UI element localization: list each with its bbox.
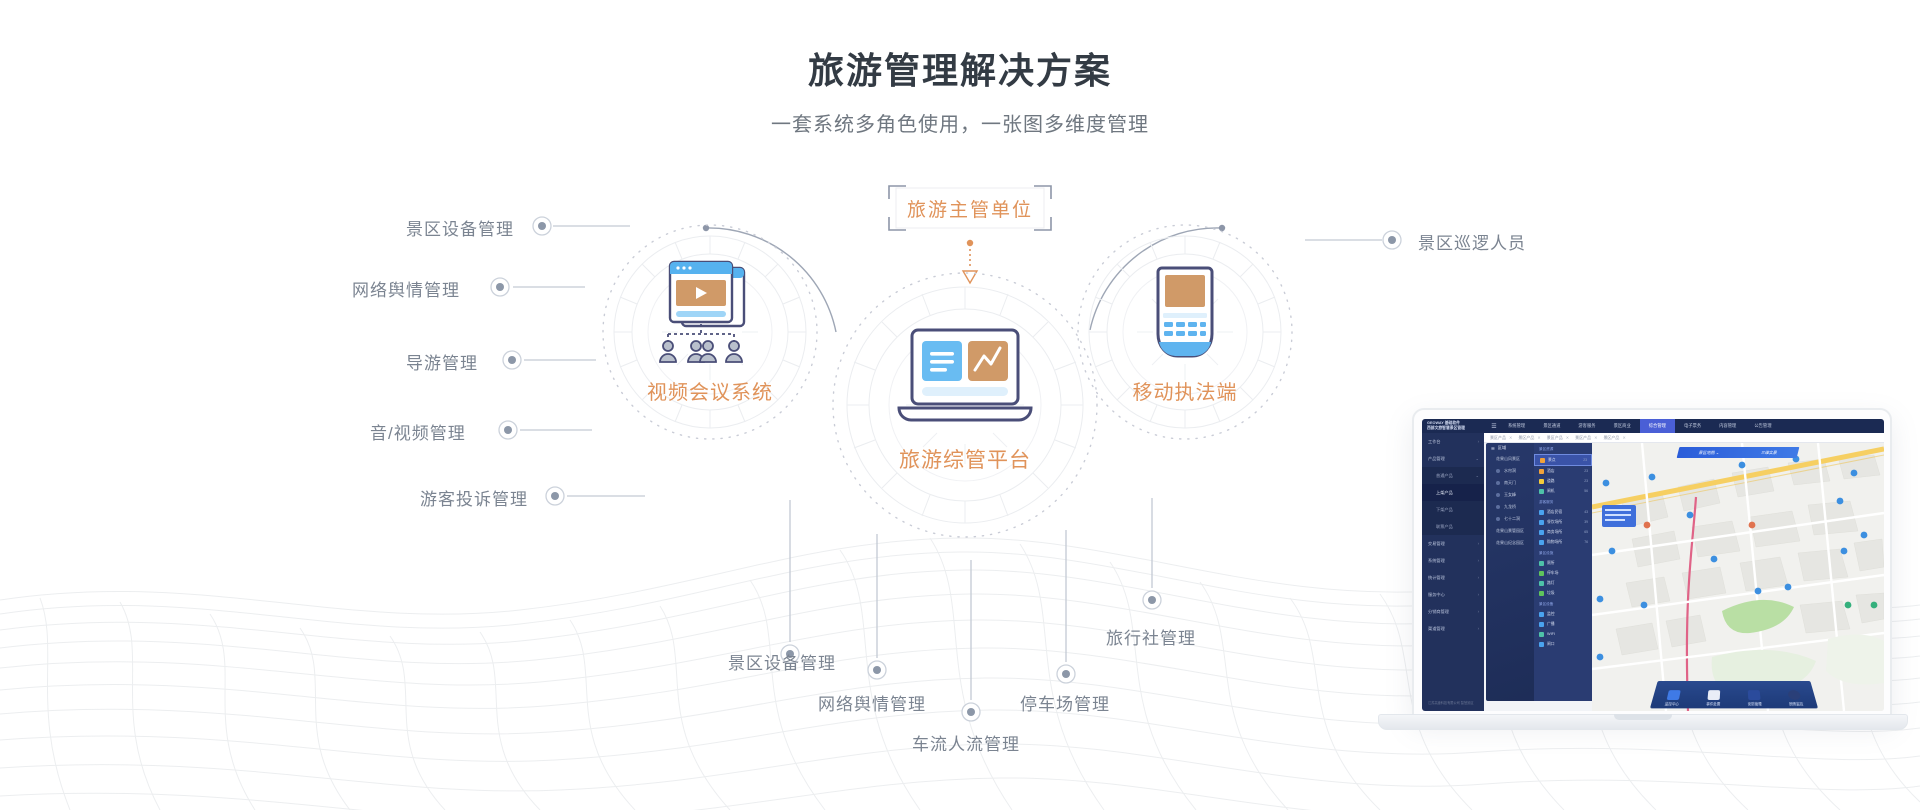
bullet-icon — [1496, 469, 1500, 473]
close-icon: ✕ — [1537, 435, 1540, 440]
left-label-4[interactable]: 游客投诉管理 — [420, 485, 528, 510]
layer-item-1-2[interactable]: 商务场所65 — [1534, 527, 1592, 537]
menu-icon[interactable]: ☰ — [1489, 423, 1499, 430]
left-label-3[interactable]: 音/视频管理 — [370, 419, 466, 444]
layer-item-1-0[interactable]: 酒店民宿43 — [1534, 507, 1592, 517]
close-icon: ✕ — [1566, 435, 1569, 440]
solution-poster: 旅游管理解决方案 一套系统多角色使用，一张图多维度管理 — [0, 0, 1920, 810]
list-icon: ☰ — [1491, 446, 1495, 451]
layer-group-0-title: 景区资源 — [1534, 443, 1592, 454]
sidebar-item-9[interactable]: 服务中心› — [1422, 586, 1484, 603]
sidebar-item-1[interactable]: 产品管理⌄ — [1422, 450, 1484, 467]
layer-item-3-0[interactable]: 监控 — [1534, 609, 1592, 619]
close-icon: ✕ — [1622, 435, 1625, 440]
bottom-label-1[interactable]: 网络舆情管理 — [818, 690, 926, 715]
layer-item-0-3[interactable]: 闸机56 — [1534, 486, 1592, 496]
tab-0[interactable]: 景区产品✕ — [1490, 435, 1512, 441]
layer-item-2-0[interactable]: 厕所 — [1534, 558, 1592, 568]
bullet-icon — [1496, 493, 1500, 497]
layer-item-3-2[interactable]: WIFI — [1534, 629, 1592, 639]
close-icon: ✕ — [1509, 435, 1512, 440]
chevron-right-icon: › — [1478, 575, 1479, 580]
left-label-2[interactable]: 导游管理 — [406, 349, 478, 374]
dashboard-tabstrip: 景区产品✕ 景区产品✕ 景区产品✕ 景区产品✕ 景区产品✕ — [1484, 433, 1884, 443]
dashboard-sidebar: 工作台› 产品管理⌄ 普通产品⌄ 上架产品 下架产品 联票产品 交易管理› 系统… — [1422, 433, 1484, 711]
chevron-right-icon: › — [1478, 541, 1479, 546]
sidebar-item-7[interactable]: 系统管理› — [1422, 552, 1484, 569]
bottom-label-0[interactable]: 景区设备管理 — [728, 649, 836, 674]
left-label-0[interactable]: 景区设备管理 — [406, 215, 514, 240]
layer-item-2-1[interactable]: 停车场 — [1534, 568, 1592, 578]
nav-item-0[interactable]: 系统管理 — [1499, 419, 1534, 433]
bottom-label-2[interactable]: 车流人流管理 — [912, 730, 1020, 755]
layer-item-1-1[interactable]: 餐饮场所39 — [1534, 517, 1592, 527]
node-tourism-platform-label: 旅游综管平台 — [830, 444, 1100, 474]
map-graphic — [1592, 443, 1884, 711]
map-button-0[interactable]: 景区地图 ⌄ — [1698, 450, 1720, 456]
sidebar-item-2[interactable]: 普通产品⌄ — [1422, 467, 1484, 484]
dashboard-app: GEOWAY 基础软件 西部文旅智慧景区管理 ☰ 系统管理 景区通道 游客服务 … — [1422, 419, 1884, 711]
nav-item-6[interactable]: 内容管理 — [1710, 419, 1745, 433]
laptop-mockup: GEOWAY 基础软件 西部文旅智慧景区管理 ☰ 系统管理 景区通道 游客服务 … — [1378, 408, 1908, 758]
dock-item-0[interactable]: 监控中心 — [1664, 690, 1681, 706]
tab-4[interactable]: 景区产品✕ — [1603, 435, 1625, 441]
close-icon: ✕ — [1594, 435, 1597, 440]
chevron-down-icon: ⌄ — [1475, 473, 1479, 478]
sidebar-item-5[interactable]: 联票产品 — [1422, 518, 1484, 535]
sidebar-footer: 江苏高速科技有限公司 智慧景区 — [1428, 701, 1474, 706]
chevron-down-icon: ⌄ — [1716, 450, 1721, 455]
layer-item-0-2[interactable]: 道路23 — [1534, 476, 1592, 486]
layer-group-1-title: 游客服务 — [1534, 496, 1592, 507]
laptop-notch — [1614, 714, 1672, 720]
node-mobile-enforcement-label: 移动执法端 — [1075, 376, 1295, 405]
map-button-1[interactable]: 三维实景 — [1760, 450, 1777, 456]
chevron-right-icon: › — [1478, 609, 1479, 614]
dashboard-brand: GEOWAY 基础软件 西部文旅智慧景区管理 — [1422, 421, 1489, 431]
tab-3[interactable]: 景区产品✕ — [1575, 435, 1597, 441]
page-title: 旅游管理解决方案 — [0, 42, 1920, 94]
map-toolbar: 景区地图 ⌄ 三维实景 — [1677, 447, 1800, 458]
nav-item-7[interactable]: 公告管理 — [1745, 419, 1780, 433]
chevron-right-icon: › — [1478, 439, 1479, 444]
nav-item-5[interactable]: 电子票务 — [1675, 419, 1710, 433]
tab-1[interactable]: 景区产品✕ — [1518, 435, 1540, 441]
layer-item-0-1[interactable]: 酒店23 — [1534, 466, 1592, 476]
nav-item-2[interactable]: 游客服务 — [1569, 419, 1604, 433]
bullet-icon — [1496, 481, 1500, 485]
dock-item-2[interactable]: 安防管理 — [1747, 690, 1762, 706]
authority-box[interactable]: 旅游主管单位 — [888, 185, 1052, 231]
dock-item-1[interactable]: 事件处置 — [1706, 690, 1721, 706]
node-video-conference[interactable] — [600, 222, 820, 442]
sidebar-item-3[interactable]: 上架产品 — [1422, 484, 1484, 501]
chevron-down-icon: ⌄ — [1475, 456, 1479, 461]
laptop-screen: GEOWAY 基础软件 西部文旅智慧景区管理 ☰ 系统管理 景区通道 游客服务 … — [1422, 419, 1884, 711]
dashboard-topbar: GEOWAY 基础软件 西部文旅智慧景区管理 ☰ 系统管理 景区通道 游客服务 … — [1422, 419, 1884, 433]
bullet-icon — [1496, 517, 1500, 521]
layer-item-2-2[interactable]: 路灯 — [1534, 578, 1592, 588]
bottom-label-4[interactable]: 旅行社管理 — [1106, 624, 1196, 649]
sidebar-item-10[interactable]: 分销商管理› — [1422, 603, 1484, 620]
layer-item-3-1[interactable]: 广播 — [1534, 619, 1592, 629]
map-canvas[interactable]: 景区地图 ⌄ 三维实景 监控中心 事件处置 安防管理 舆情监控 — [1592, 443, 1884, 711]
left-label-1[interactable]: 网络舆情管理 — [352, 276, 460, 301]
laptop-screen-frame: GEOWAY 基础软件 西部文旅智慧景区管理 ☰ 系统管理 景区通道 游客服务 … — [1412, 408, 1892, 718]
tab-2[interactable]: 景区产品✕ — [1547, 435, 1569, 441]
authority-label: 旅游主管单位 — [888, 185, 1052, 231]
node-tourism-platform[interactable]: 旅游综管平台 — [830, 270, 1100, 540]
sidebar-item-0[interactable]: 工作台› — [1422, 433, 1484, 450]
sidebar-item-6[interactable]: 交易管理› — [1422, 535, 1484, 552]
layer-item-3-3[interactable]: 闸口 — [1534, 639, 1592, 649]
bottom-label-3[interactable]: 停车场管理 — [1020, 690, 1110, 715]
bullet-icon — [1496, 505, 1500, 509]
layer-group-2-title: 景区设施 — [1534, 547, 1592, 558]
nav-item-3[interactable]: 景区商业 — [1605, 419, 1640, 433]
layer-item-0-0[interactable]: 景点23 — [1534, 454, 1592, 466]
dock-item-3[interactable]: 舆情监控 — [1786, 690, 1803, 706]
sidebar-item-8[interactable]: 统计管理› — [1422, 569, 1484, 586]
chevron-right-icon: › — [1478, 558, 1479, 563]
laptop-dashboard-icon — [893, 326, 1037, 430]
dashboard-nav: 系统管理 景区通道 游客服务 景区商业 综合管理 电子票务 内容管理 公告管理 — [1499, 419, 1884, 433]
sidebar-item-11[interactable]: 渠道管理› — [1422, 620, 1484, 637]
layer-group-3-title: 景区设备 — [1534, 598, 1592, 609]
layer-item-1-3[interactable]: 购物场所76 — [1534, 537, 1592, 547]
map-dock: 监控中心 事件处置 安防管理 舆情监控 — [1650, 681, 1818, 708]
brand-line-2: 西部文旅智慧景区管理 — [1427, 426, 1489, 431]
chevron-right-icon: › — [1478, 626, 1479, 631]
right-label-0[interactable]: 景区巡逻人员 — [1418, 229, 1526, 254]
video-window-icon — [646, 260, 774, 370]
node-video-conference-label: 视频会议系统 — [600, 376, 820, 405]
nav-item-1[interactable]: 景区通道 — [1534, 419, 1569, 433]
nav-item-4[interactable]: 综合管理 — [1640, 419, 1675, 433]
sidebar-item-4[interactable]: 下架产品 — [1422, 501, 1484, 518]
layer-item-2-3[interactable]: 垃圾 — [1534, 588, 1592, 598]
chevron-right-icon: › — [1478, 592, 1479, 597]
node-mobile-enforcement[interactable] — [1075, 222, 1295, 442]
handheld-terminal-icon — [1149, 264, 1221, 368]
layer-list-panel: 景区资源 景点23 酒店23 道路23 闸机56 游客服务 酒店民宿43 餐饮场… — [1534, 443, 1592, 701]
page-subtitle: 一套系统多角色使用，一张图多维度管理 — [0, 108, 1920, 137]
